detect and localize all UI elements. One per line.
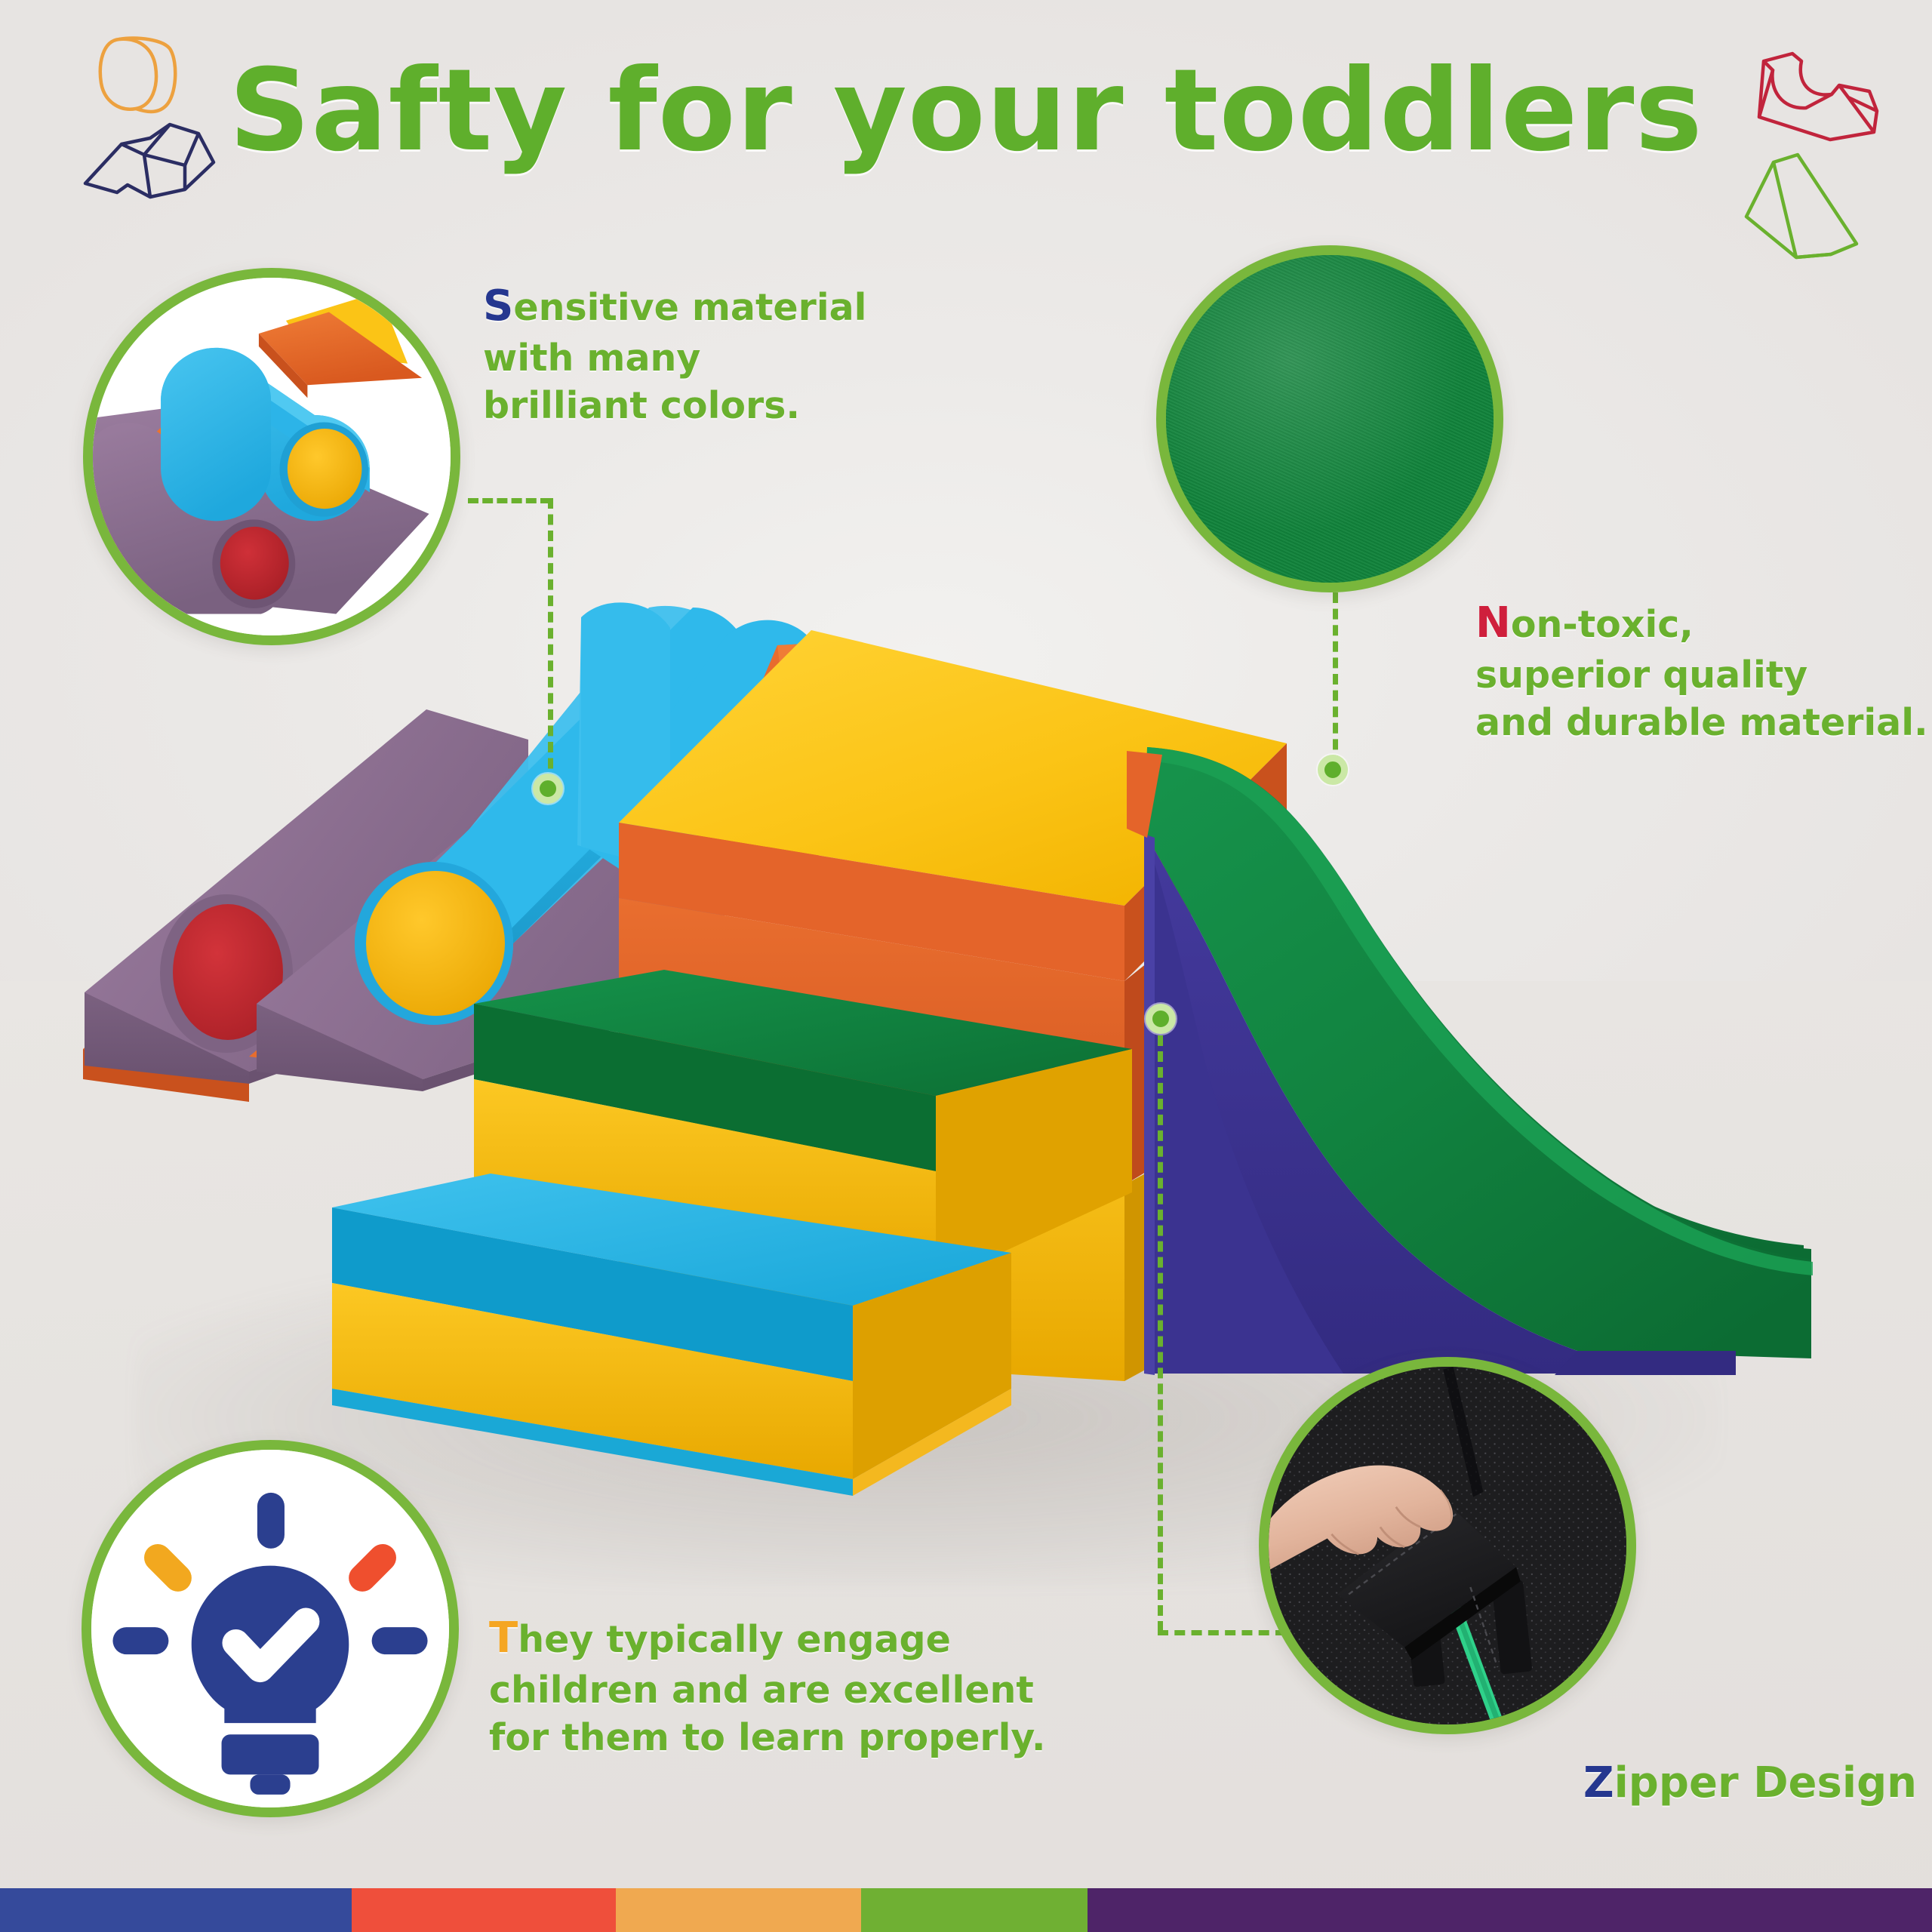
feature-cap-engage: T [489,1614,518,1663]
bulb-tip [250,1774,290,1795]
strip-segment-blue [0,1888,352,1932]
feature-cap-nontoxic: N [1475,598,1511,648]
feature-body-sensitive: ensitive material with many brilliant co… [483,286,866,427]
zipper-closure-photo [1269,1367,1626,1724]
connector-zipper-horizontal [1158,1630,1286,1635]
lightbulb-check-icon [91,1450,449,1807]
zipper-label-body: ipper Design [1614,1758,1917,1807]
bulb-base [222,1734,319,1774]
connector-rollers-vertical [548,498,553,785]
strip-segment-orange [616,1888,861,1932]
inset-green-material-swatch [1156,245,1503,592]
callout-dot-cyan-cylinder [533,774,563,804]
ray-top [257,1493,285,1549]
feature-text-nontoxic: Non-toxic, superior quality and durable … [1475,596,1928,747]
inset-zipper-photo [1259,1357,1636,1734]
callout-dot-green-slide [1318,755,1348,785]
ray-right [372,1627,428,1654]
strip-segment-purple [1088,1888,1932,1932]
feature-text-sensitive: Sensitive material with many brilliant c… [483,279,866,430]
connector-zipper-vertical [1158,1035,1163,1632]
feature-text-engage: They typically engage children and are e… [489,1611,1045,1762]
bottom-color-strip [0,1888,1932,1932]
feature-cap-sensitive: S [483,281,513,331]
zipper-label-cap: Z [1583,1758,1614,1807]
ray-left [112,1627,168,1654]
zipper-design-label: Zipper Design [1583,1758,1917,1807]
feature-body-nontoxic: on-toxic, superior quality and durable m… [1475,603,1928,744]
inset-lightbulb-icon [82,1440,459,1817]
strip-segment-green [861,1888,1088,1932]
strip-segment-red [352,1888,616,1932]
feature-body-engage: hey typically engage children and are ex… [489,1618,1045,1759]
infographic-canvas: Safty for your toddlers [0,0,1932,1932]
foam-rollers-photo [93,278,451,635]
green-material-swatch [1166,255,1494,583]
connector-green-vertical [1333,592,1338,766]
callout-dot-navy-side [1146,1004,1176,1034]
inset-foam-rollers-photo [83,268,460,645]
connector-rollers-horizontal [468,498,551,503]
